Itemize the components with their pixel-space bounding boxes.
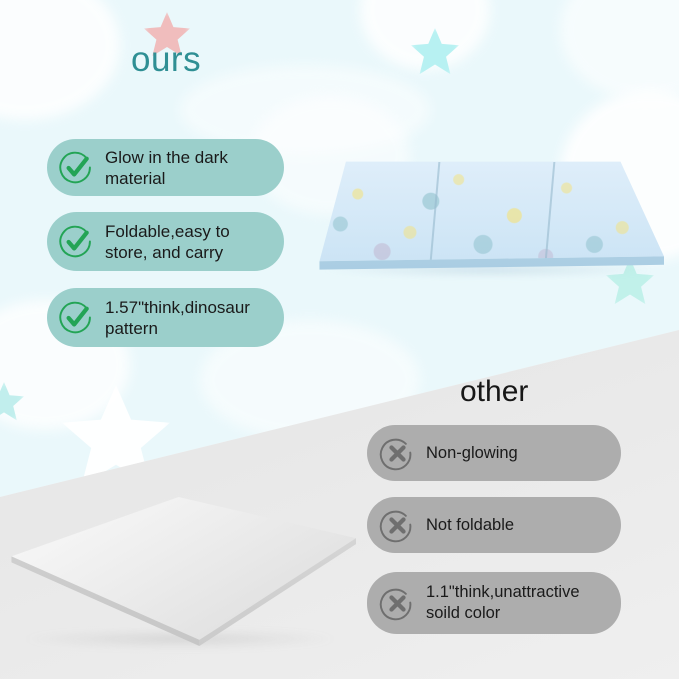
plain-grey-mat-image (8, 494, 356, 646)
x-circle-icon (379, 585, 416, 622)
ours-feature-label: Glow in the dark material (105, 147, 284, 189)
other-feature-item-1[interactable]: Non-glowing (367, 425, 621, 481)
other-feature-label: Non-glowing (426, 443, 526, 464)
ours-feature-item-2[interactable]: Foldable,easy to store, and carry (47, 212, 284, 271)
x-circle-icon (379, 507, 416, 544)
folded-dinosaur-play-mat-image (316, 158, 664, 278)
other-heading: other (460, 377, 528, 407)
other-feature-label: Not foldable (426, 515, 522, 536)
ours-feature-label: 1.57"think,dinosaur pattern (105, 297, 284, 339)
check-circle-icon (58, 299, 95, 336)
ours-heading: ours (131, 42, 201, 77)
ours-feature-item-1[interactable]: Glow in the dark material (47, 139, 284, 196)
other-feature-label: 1.1"think,unattractive soild color (426, 582, 621, 624)
other-feature-item-3[interactable]: 1.1"think,unattractive soild color (367, 572, 621, 634)
mat-top-surface (8, 494, 356, 646)
x-circle-icon (379, 435, 416, 472)
ours-feature-item-3[interactable]: 1.57"think,dinosaur pattern (47, 288, 284, 347)
other-feature-item-2[interactable]: Not foldable (367, 497, 621, 553)
ours-feature-label: Foldable,easy to store, and carry (105, 221, 284, 263)
comparison-infographic: ours other Glow in the dark material Fol… (0, 0, 679, 679)
check-circle-icon (58, 149, 95, 186)
check-circle-icon (58, 223, 95, 260)
